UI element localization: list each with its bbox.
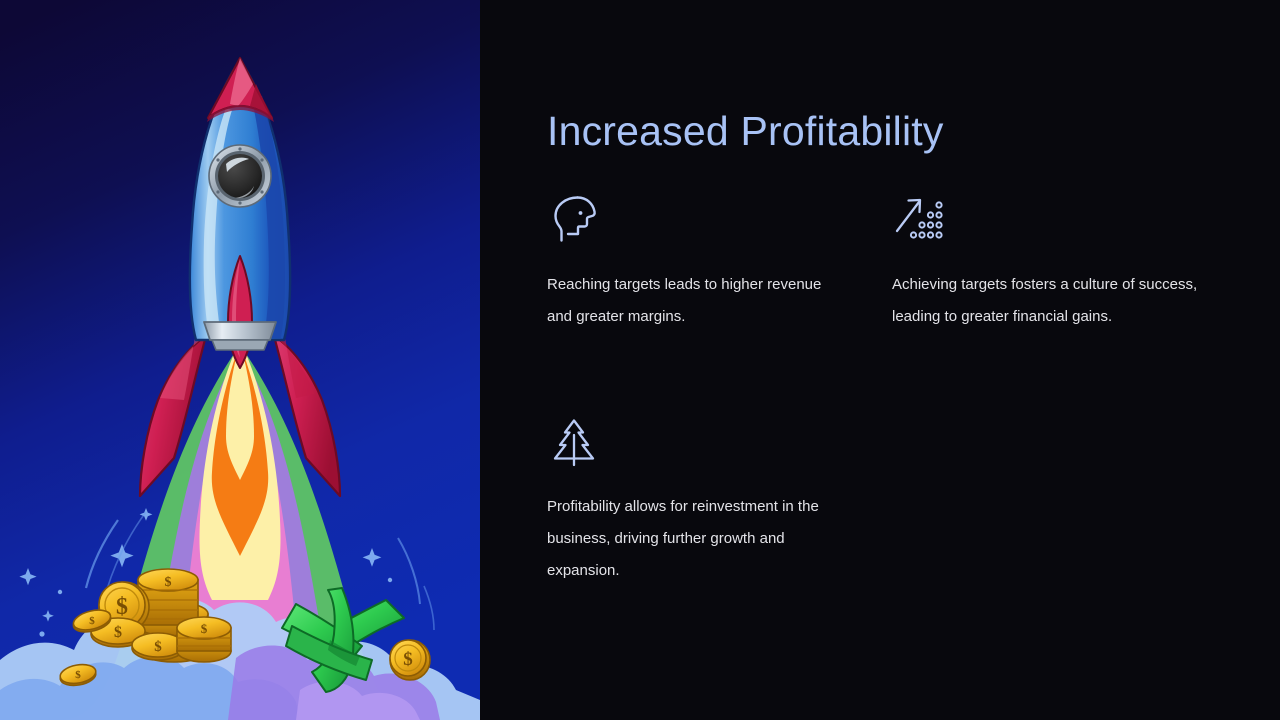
slide: $ $ $ <box>0 0 1280 720</box>
rocket-launch-money-illustration: $ $ $ <box>0 0 480 720</box>
svg-text:$: $ <box>165 575 172 590</box>
svg-text:$: $ <box>116 594 128 620</box>
illustration-svg: $ $ $ <box>0 0 480 720</box>
content-panel: Increased Profitability Reaching targets… <box>480 0 1280 720</box>
svg-text:$: $ <box>114 624 122 641</box>
benefit-cards: Reaching targets leads to higher revenue… <box>480 0 1280 720</box>
benefit-card-2: Achieving targets fosters a culture of s… <box>892 193 1212 333</box>
benefit-card-1: Reaching targets leads to higher revenue… <box>547 193 867 333</box>
head-profile-icon <box>547 193 601 247</box>
growth-arrow-dots-icon <box>892 193 946 247</box>
svg-text:$: $ <box>403 649 413 670</box>
svg-text:$: $ <box>201 621 208 636</box>
benefit-card-3: Profitability allows for reinvestment in… <box>547 415 867 587</box>
benefit-card-1-text: Reaching targets leads to higher revenue… <box>547 269 827 333</box>
svg-text:$: $ <box>154 639 162 655</box>
benefit-card-3-text: Profitability allows for reinvestment in… <box>547 491 852 587</box>
pine-tree-icon <box>547 415 601 469</box>
svg-text:$: $ <box>89 615 95 627</box>
porthole <box>209 145 271 207</box>
benefit-card-2-text: Achieving targets fosters a culture of s… <box>892 269 1202 333</box>
svg-text:$: $ <box>75 669 81 681</box>
